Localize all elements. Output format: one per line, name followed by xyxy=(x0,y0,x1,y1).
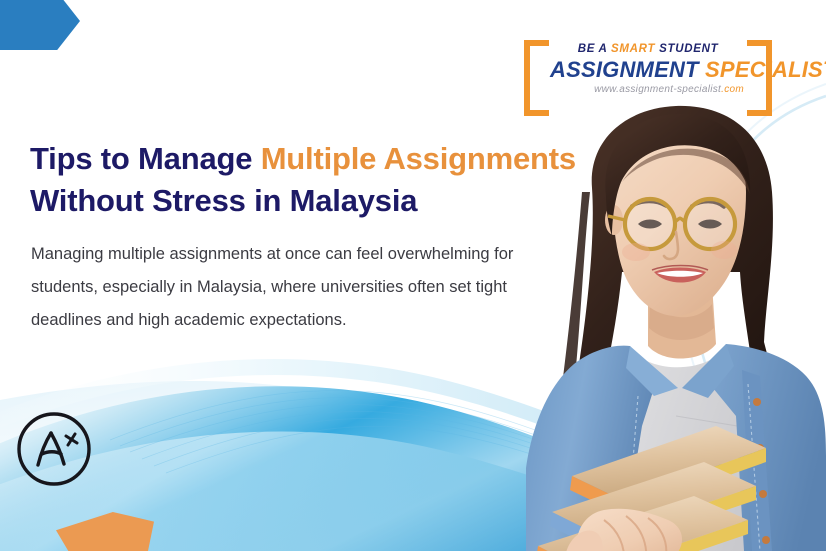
badge-plus-glyph xyxy=(66,434,77,445)
orange-polygon-shape xyxy=(56,512,154,551)
logo-brand-name: ASSIGNMENT SPECIALIST xyxy=(550,57,746,83)
logo-url-text: www.assignment-specialist xyxy=(594,84,721,95)
body-paragraph: Managing multiple assignments at once ca… xyxy=(31,238,579,337)
headline-line1-accent: Multiple Assignments xyxy=(261,141,576,176)
logo-tagline: BE A SMART STUDENT xyxy=(550,42,746,57)
headline-line1-plain: Tips to Manage xyxy=(30,141,261,176)
cheek-right xyxy=(711,241,737,259)
headline-line2: Without Stress in Malaysia xyxy=(30,183,417,218)
badge-a-glyph xyxy=(38,433,64,465)
brand-logo[interactable]: BE A SMART STUDENT ASSIGNMENT SPECIALIST… xyxy=(524,38,772,106)
badge-circle-outline xyxy=(19,414,89,484)
logo-tagline-part2: STUDENT xyxy=(655,43,718,55)
page-title: Tips to Manage Multiple Assignments With… xyxy=(30,138,600,222)
logo-url-tld: .com xyxy=(721,84,744,95)
logo-tagline-highlight: SMART xyxy=(611,43,655,55)
cheek-left xyxy=(622,243,650,261)
logo-brand-part1: ASSIGNMENT xyxy=(550,57,705,82)
blue-hexagon-shape xyxy=(0,0,80,50)
logo-bracket-left-icon xyxy=(524,40,549,116)
logo-brand-part2: SPECIALIST xyxy=(705,57,826,82)
marketing-banner: BE A SMART STUDENT ASSIGNMENT SPECIALIST… xyxy=(0,0,826,551)
a-plus-grade-badge xyxy=(15,410,93,488)
logo-tagline-part1: BE A xyxy=(578,43,611,55)
logo-website-url[interactable]: www.assignment-specialist.com xyxy=(550,83,746,97)
